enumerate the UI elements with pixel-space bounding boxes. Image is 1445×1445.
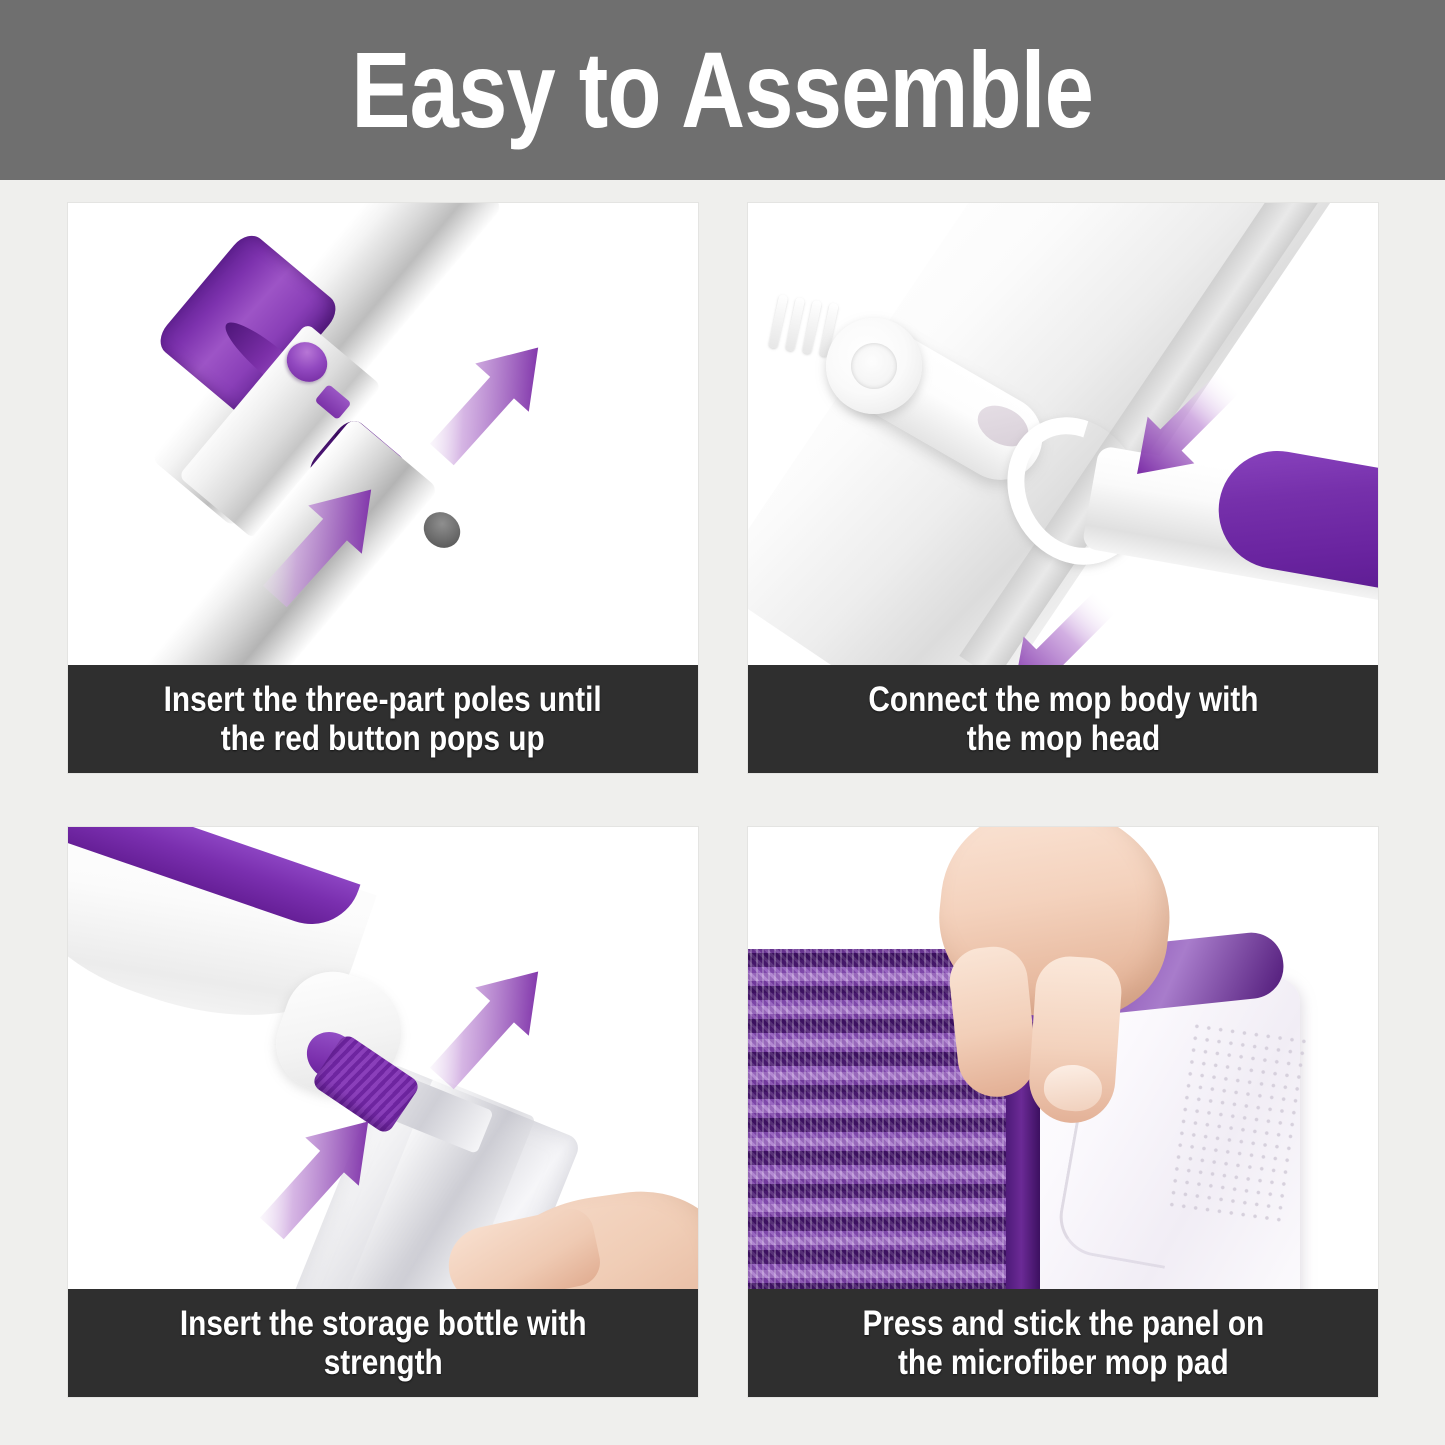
direction-arrow-icon — [250, 1095, 390, 1255]
step-caption-text-2: Connect the mop body with the mop head — [868, 680, 1258, 758]
direction-arrow-icon — [420, 945, 560, 1105]
step-caption-text-3: Insert the storage bottle with strength — [180, 1304, 587, 1382]
infographic-page: Easy to Assemble — [0, 0, 1445, 1445]
step-caption-text-4: Press and stick the panel on the microfi… — [862, 1304, 1264, 1382]
step-card-4[interactable]: Press and stick the panel on the microfi… — [748, 827, 1378, 1397]
page-header: Easy to Assemble — [0, 0, 1445, 180]
direction-arrow-icon — [420, 321, 560, 481]
step-caption-bar-1: Insert the three-part poles until the re… — [68, 665, 698, 773]
page-title: Easy to Assemble — [352, 36, 1094, 144]
step-card-2[interactable]: Connect the mop body with the mop head — [748, 203, 1378, 773]
step-caption-bar-2: Connect the mop body with the mop head — [748, 665, 1378, 773]
step-card-1[interactable]: Insert the three-part poles until the re… — [68, 203, 698, 773]
step-caption-bar-3: Insert the storage bottle with strength — [68, 1289, 698, 1397]
step-caption-bar-4: Press and stick the panel on the microfi… — [748, 1289, 1378, 1397]
steps-grid: Insert the three-part poles until the re… — [0, 180, 1445, 1445]
swivel-pivot-disc — [826, 318, 922, 414]
step-card-3[interactable]: Insert the storage bottle with strength — [68, 827, 698, 1397]
direction-arrow-icon — [253, 463, 393, 623]
step-caption-text-1: Insert the three-part poles until the re… — [164, 680, 602, 758]
pole-button-hole — [417, 505, 468, 555]
